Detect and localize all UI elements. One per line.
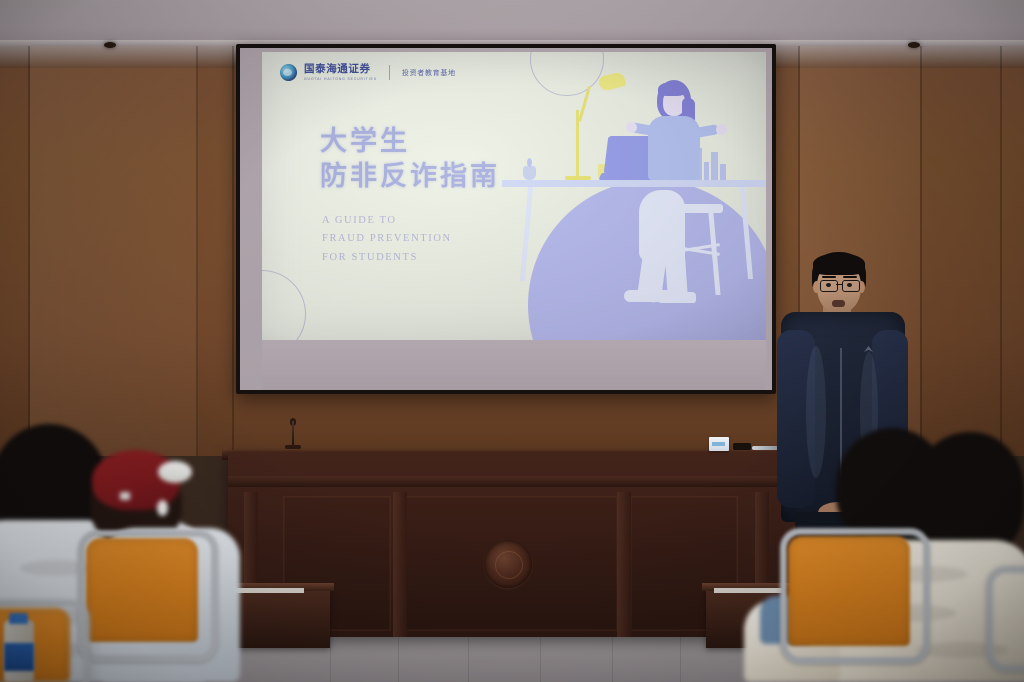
cap-tag bbox=[120, 492, 130, 500]
microphone-base bbox=[285, 445, 301, 449]
brand-logo: 国泰海通证券 GUOTAI HAITONG SECURITIES 投资者教育基地 bbox=[280, 64, 456, 81]
circle-eye-logo-icon bbox=[280, 64, 297, 81]
brand-name-en: GUOTAI HAITONG SECURITIES bbox=[304, 77, 377, 81]
presenter-eye-left bbox=[826, 283, 831, 287]
slide-title: 大学生 防非反诈指南 bbox=[320, 124, 500, 194]
presenter-brow-left bbox=[822, 276, 836, 278]
slide-title-line2: 防非反诈指南 bbox=[320, 159, 500, 194]
illustration-lamp-arm bbox=[578, 86, 591, 121]
paper-right bbox=[714, 588, 782, 593]
slide-subtitle-line1: A GUIDE TO bbox=[322, 212, 452, 230]
illustration-lamp-pole bbox=[576, 110, 579, 178]
illustration-book-5 bbox=[720, 164, 726, 180]
illustration-woman-torso bbox=[648, 116, 700, 180]
paper-left bbox=[232, 588, 304, 593]
ceiling-downlight-right bbox=[908, 42, 920, 48]
illustration-woman-shoe-back bbox=[656, 292, 696, 303]
podium-pilaster-left bbox=[393, 492, 407, 637]
brand-name-cn: 国泰海通证券 bbox=[304, 64, 377, 75]
presenter-mouth bbox=[832, 300, 845, 307]
wall-seam-5 bbox=[920, 46, 922, 456]
illustration-desktop bbox=[502, 180, 766, 187]
illustration-lamp-head bbox=[598, 71, 627, 92]
presenter-eye-right bbox=[847, 283, 852, 287]
podium-pilaster-right bbox=[617, 492, 631, 637]
wall-seam-6 bbox=[1000, 46, 1002, 456]
wall-seam-2 bbox=[196, 46, 198, 456]
illustration-plant bbox=[527, 158, 532, 167]
presenter-ear-left bbox=[813, 281, 820, 293]
slide-subtitle-line3: FOR STUDENTS bbox=[322, 249, 452, 267]
wall-panel-left-light bbox=[30, 46, 198, 456]
brand-sub-label: 投资者教育基地 bbox=[402, 68, 456, 78]
slide-subtitle-line2: FRAUD PREVENTION bbox=[322, 230, 452, 248]
slide-subtitle: A GUIDE TO FRAUD PREVENTION FOR STUDENTS bbox=[322, 212, 452, 267]
screen-blank-area bbox=[262, 340, 766, 390]
slide-title-line1: 大学生 bbox=[320, 124, 500, 159]
logo-divider bbox=[389, 65, 390, 80]
water-bottle-label bbox=[4, 643, 34, 671]
earbud bbox=[157, 500, 168, 516]
illustration-woman-hand-left bbox=[626, 122, 637, 133]
presenter-brow-right bbox=[843, 276, 857, 278]
laser-pointer[interactable] bbox=[752, 446, 778, 450]
illustration-woman-hand-right bbox=[716, 124, 727, 135]
screen-surface: 国泰海通证券 GUOTAI HAITONG SECURITIES 投资者教育基地… bbox=[240, 48, 772, 390]
illustration-book-3 bbox=[704, 162, 709, 180]
tissue-box[interactable] bbox=[709, 437, 729, 451]
water-bottle-cap[interactable] bbox=[9, 613, 28, 624]
illustration-desk-leg-left bbox=[520, 187, 533, 281]
woman-at-desk-with-laptop-illustration bbox=[506, 52, 766, 340]
illustration-glass bbox=[523, 166, 536, 180]
podium-rail bbox=[228, 476, 798, 487]
wall-seam-1 bbox=[28, 46, 30, 456]
deco-circle-bottom-left bbox=[262, 270, 306, 340]
podium-medallion bbox=[484, 540, 532, 588]
ceiling-downlight-left bbox=[104, 42, 116, 48]
wall-seam-3 bbox=[232, 46, 234, 456]
illustration-book-4 bbox=[711, 152, 718, 180]
microphone-stem bbox=[292, 421, 294, 447]
presentation-slide: 国泰海通证券 GUOTAI HAITONG SECURITIES 投资者教育基地… bbox=[262, 52, 766, 340]
cap-brim bbox=[158, 461, 192, 483]
chair-back-right[interactable] bbox=[788, 536, 910, 646]
illustration-laptop-screen bbox=[604, 136, 655, 174]
projection-screen: 国泰海通证券 GUOTAI HAITONG SECURITIES 投资者教育基地… bbox=[236, 44, 776, 394]
chair-frame-far-right[interactable] bbox=[986, 566, 1024, 672]
presenter-jacket-fold-left bbox=[806, 346, 826, 478]
chair-back-left[interactable] bbox=[86, 538, 198, 642]
remote-control[interactable] bbox=[733, 443, 751, 450]
presenter-hair-top bbox=[813, 253, 865, 275]
lecture-room-photo: 国泰海通证券 GUOTAI HAITONG SECURITIES 投资者教育基地… bbox=[0, 0, 1024, 682]
illustration-woman-fringe bbox=[658, 82, 686, 96]
eyeglasses-bridge bbox=[836, 284, 842, 285]
